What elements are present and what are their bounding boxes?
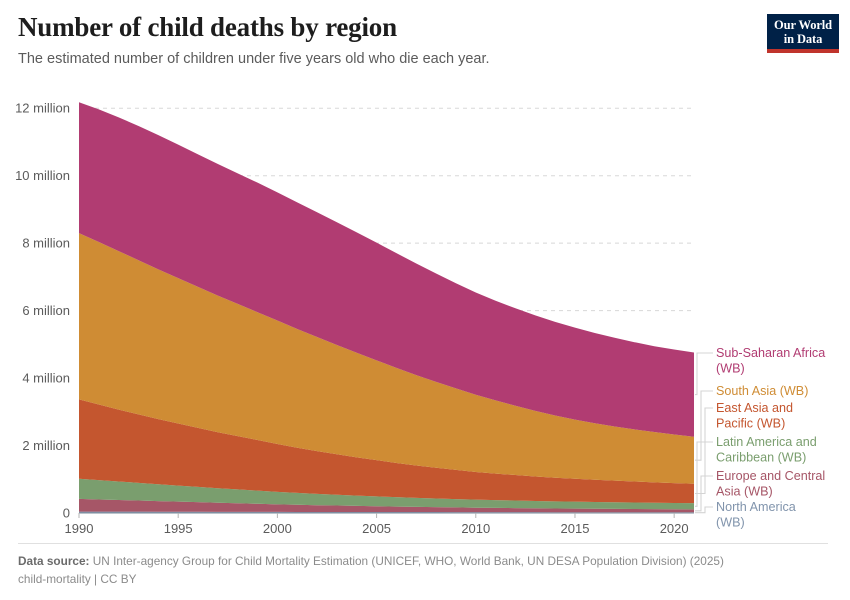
legend-item-label: (WB): [716, 516, 745, 530]
chart-footer: Data source: UN Inter-agency Group for C…: [18, 543, 828, 589]
stacked-area-chart[interactable]: 02 million4 million6 million8 million10 …: [0, 78, 850, 538]
legend-connector-line: [695, 408, 713, 494]
legend-item-label: Asia (WB): [716, 485, 773, 499]
license-line[interactable]: child-mortality | CC BY: [18, 570, 828, 588]
legend-item-label: Sub-Saharan Africa: [716, 346, 825, 360]
chart-subtitle: The estimated number of children under f…: [18, 50, 738, 69]
legend-item-label: Pacific (WB): [716, 417, 785, 431]
x-axis-tick-label: 2005: [362, 521, 391, 536]
legend-item-label: Caribbean (WB): [716, 451, 806, 465]
chart-page: Number of child deaths by region The est…: [0, 0, 850, 600]
x-axis-tick-label: 1990: [65, 521, 94, 536]
legend-item-label: Europe and Central: [716, 469, 825, 483]
x-axis-tick-label: 2015: [561, 521, 590, 536]
legend-item-label: South Asia (WB): [716, 384, 808, 398]
x-axis-tick-label: 2020: [660, 521, 689, 536]
chart-area: 02 million4 million6 million8 million10 …: [0, 78, 850, 538]
x-axis-tick-label: 2010: [461, 521, 490, 536]
legend-item-label: Latin America and: [716, 435, 817, 449]
legend-item-south-asia-wb[interactable]: South Asia (WB): [716, 384, 808, 398]
chart-header: Number of child deaths by region The est…: [18, 12, 738, 69]
x-axis-tick-label: 1995: [164, 521, 193, 536]
legend-item-label: (WB): [716, 362, 745, 376]
legend-item-label: East Asia and: [716, 401, 793, 415]
y-axis-tick-label: 4 million: [22, 371, 70, 386]
our-world-in-data-logo[interactable]: Our World in Data: [767, 14, 839, 53]
legend-connector-line: [695, 507, 713, 513]
data-source-text: UN Inter-agency Group for Child Mortalit…: [93, 554, 724, 568]
logo-line-2: in Data: [767, 32, 839, 49]
legend-item-north-america-wb[interactable]: North America(WB): [716, 500, 796, 530]
x-axis-tick-label: 2000: [263, 521, 292, 536]
data-source-label: Data source:: [18, 554, 89, 568]
page-title: Number of child deaths by region: [18, 12, 738, 43]
y-axis-tick-label: 12 million: [15, 101, 70, 116]
legend-connector-line: [695, 442, 713, 506]
y-axis-tick-label: 2 million: [22, 438, 70, 453]
y-axis-tick-label: 6 million: [22, 303, 70, 318]
legend-item-east-asia-and-pacific-wb[interactable]: East Asia andPacific (WB): [716, 401, 793, 431]
y-axis-tick-label: 8 million: [22, 236, 70, 251]
y-axis-tick-label: 10 million: [15, 168, 70, 183]
legend-item-latin-america-and-caribbean-wb[interactable]: Latin America andCaribbean (WB): [716, 435, 817, 465]
legend-connector-line: [695, 353, 713, 395]
y-axis-tick-label: 0: [63, 506, 70, 521]
legend-item-europe-and-central-asia-wb[interactable]: Europe and CentralAsia (WB): [716, 469, 825, 499]
legend-connector-line: [695, 391, 713, 460]
logo-line-1: Our World: [767, 18, 839, 32]
data-source-line: Data source: UN Inter-agency Group for C…: [18, 552, 828, 570]
legend-item-label: North America: [716, 500, 796, 514]
legend-item-sub-saharan-africa-wb[interactable]: Sub-Saharan Africa(WB): [716, 346, 825, 376]
